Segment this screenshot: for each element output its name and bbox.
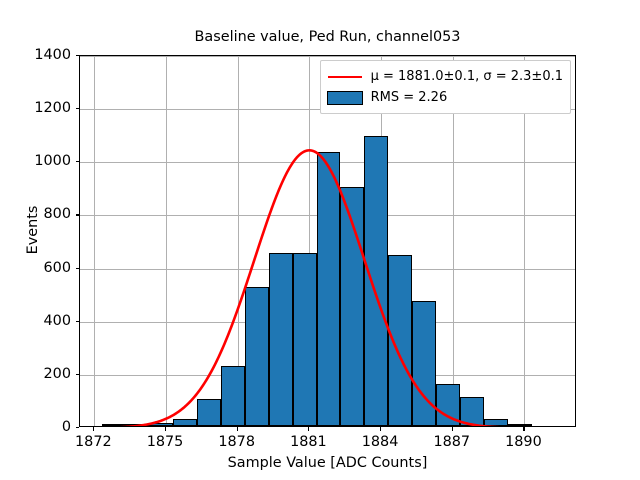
y-tick-mark [76,427,80,428]
histogram-bar [125,424,149,426]
x-tick-mark [93,427,94,431]
histogram-bar [436,384,460,427]
histogram-bar [293,253,317,426]
x-tick-label: 1881 [268,435,348,449]
line-swatch-icon [327,70,363,84]
histogram-bar [269,253,293,426]
gridline-vertical [166,56,167,426]
patch-swatch-icon [327,91,363,105]
y-tick-label: 1000 [11,154,71,168]
legend: μ = 1881.0±0.1, σ = 2.3±0.1 RMS = 2.26 [320,60,571,114]
x-tick-label: 1875 [125,435,205,449]
gridline-vertical [94,56,95,426]
histogram-bar [484,419,508,426]
histogram-bar [245,287,269,427]
legend-item-rms: RMS = 2.26 [327,87,563,108]
x-tick-mark [165,427,166,431]
legend-item-fit: μ = 1881.0±0.1, σ = 2.3±0.1 [327,66,563,87]
histogram-bar [412,301,436,426]
x-tick-label: 1890 [483,435,563,449]
x-tick-label: 1878 [197,435,277,449]
legend-label-rms: RMS = 2.26 [371,90,448,105]
x-axis-label: Sample Value [ADC Counts] [79,455,576,471]
histogram-bar [508,424,532,426]
x-tick-label: 1872 [53,435,133,449]
y-tick-label: 1400 [11,48,71,62]
histogram-bar [388,255,412,426]
x-tick-label: 1884 [340,435,420,449]
x-tick-mark [452,427,453,431]
x-tick-mark [380,427,381,431]
legend-label-fit: μ = 1881.0±0.1, σ = 2.3±0.1 [371,69,563,84]
x-tick-mark [237,427,238,431]
y-tick-label: 200 [11,367,71,381]
histogram-bar [340,187,364,426]
histogram-bar [221,366,245,426]
matplotlib-figure: Baseline value, Ped Run, channel053 Even… [0,0,640,480]
x-tick-mark [523,427,524,431]
histogram-bar [149,423,173,426]
y-tick-label: 1200 [11,101,71,115]
histogram-bar [317,152,341,426]
histogram-bar [364,136,388,426]
histogram-bar [173,419,197,426]
y-tick-label: 0 [11,420,71,434]
histogram-bar [197,399,221,426]
y-tick-label: 400 [11,314,71,328]
gridline-horizontal [80,56,575,57]
x-tick-label: 1887 [412,435,492,449]
chart-title: Baseline value, Ped Run, channel053 [79,29,576,45]
x-tick-mark [308,427,309,431]
y-tick-label: 800 [11,207,71,221]
histogram-bar [460,397,484,426]
histogram-bar [102,424,126,426]
y-tick-label: 600 [11,261,71,275]
plot-area: μ = 1881.0±0.1, σ = 2.3±0.1 RMS = 2.26 [79,55,576,427]
